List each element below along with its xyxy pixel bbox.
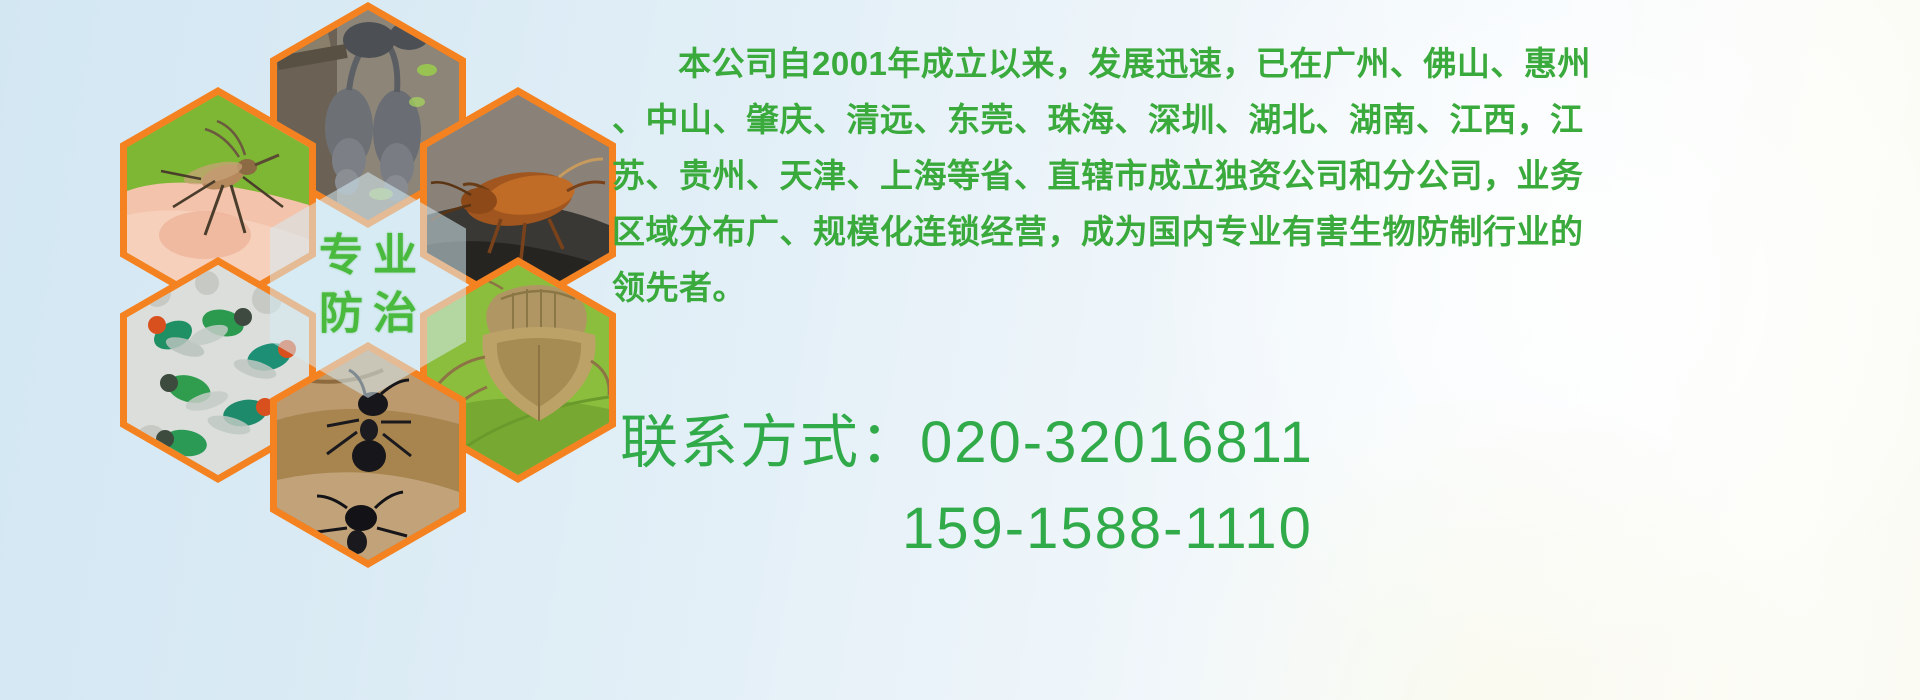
company-intro-paragraph: 本公司自2001年成立以来，发展迅速，已在广州、佛山、惠州 、中山、肇庆、清远、… — [612, 36, 1908, 316]
intro-line-1: 本公司自2001年成立以来，发展迅速，已在广州、佛山、惠州 — [612, 36, 1908, 92]
intro-line-5: 领先者。 — [612, 260, 1908, 316]
slogan-line-1: 专业 — [309, 234, 427, 278]
intro-line-3: 苏、贵州、天津、上海等省、直辖市成立独资公司和分公司，业务 — [612, 148, 1908, 204]
slogan-line-2: 防治 — [309, 292, 427, 336]
contact-block: 联系方式：020-32016811 159-1588-1110 — [620, 400, 1910, 572]
contact-landline[interactable]: 联系方式：020-32016811 — [620, 400, 1910, 486]
honeycomb-collage: 专业 防治 — [88, 0, 608, 592]
intro-line-2: 、中山、肇庆、清远、东莞、珠海、深圳、湖北、湖南、江西，江 — [612, 92, 1908, 148]
intro-line-4: 区域分布广、规模化连锁经营，成为国内专业有害生物防制行业的 — [612, 204, 1908, 260]
pest-control-banner: 专业 防治 本公司自2001年成立以来，发展迅速，已在广州、佛山、惠州 、中山、… — [0, 0, 1920, 700]
contact-mobile[interactable]: 159-1588-1110 — [620, 486, 1910, 572]
